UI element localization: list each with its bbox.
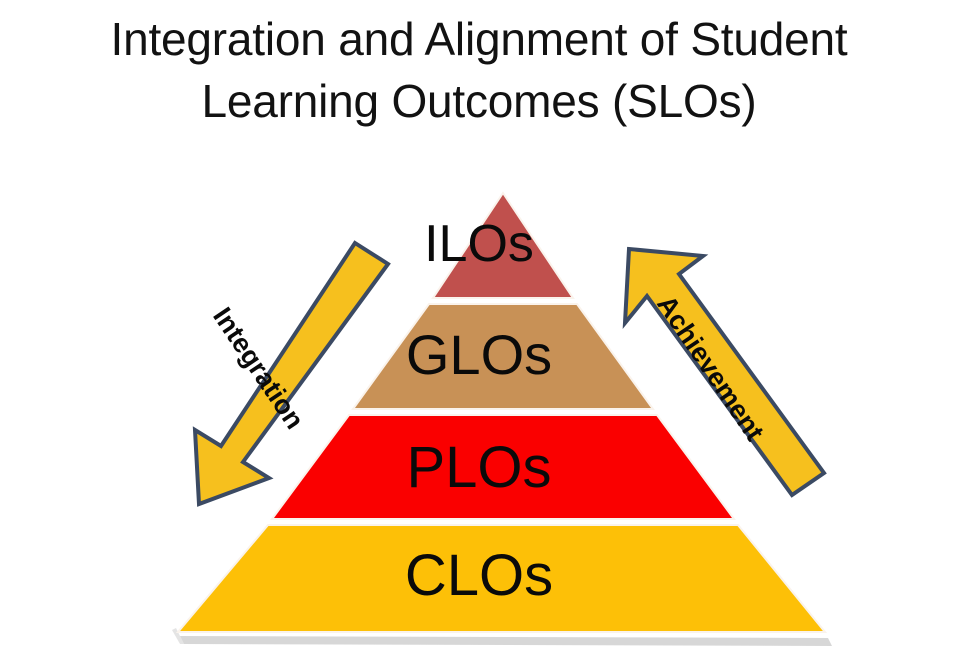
pyramid-tier-clos[interactable]: [178, 525, 825, 632]
slide-canvas: Integration and Alignment of Student Lea…: [0, 0, 958, 664]
pyramid-tier-ilos[interactable]: [433, 193, 573, 298]
pyramid-tier-plos[interactable]: [272, 415, 734, 519]
slo-pyramid-graphic: [0, 0, 958, 664]
pyramid-tier-glos[interactable]: [353, 304, 653, 409]
